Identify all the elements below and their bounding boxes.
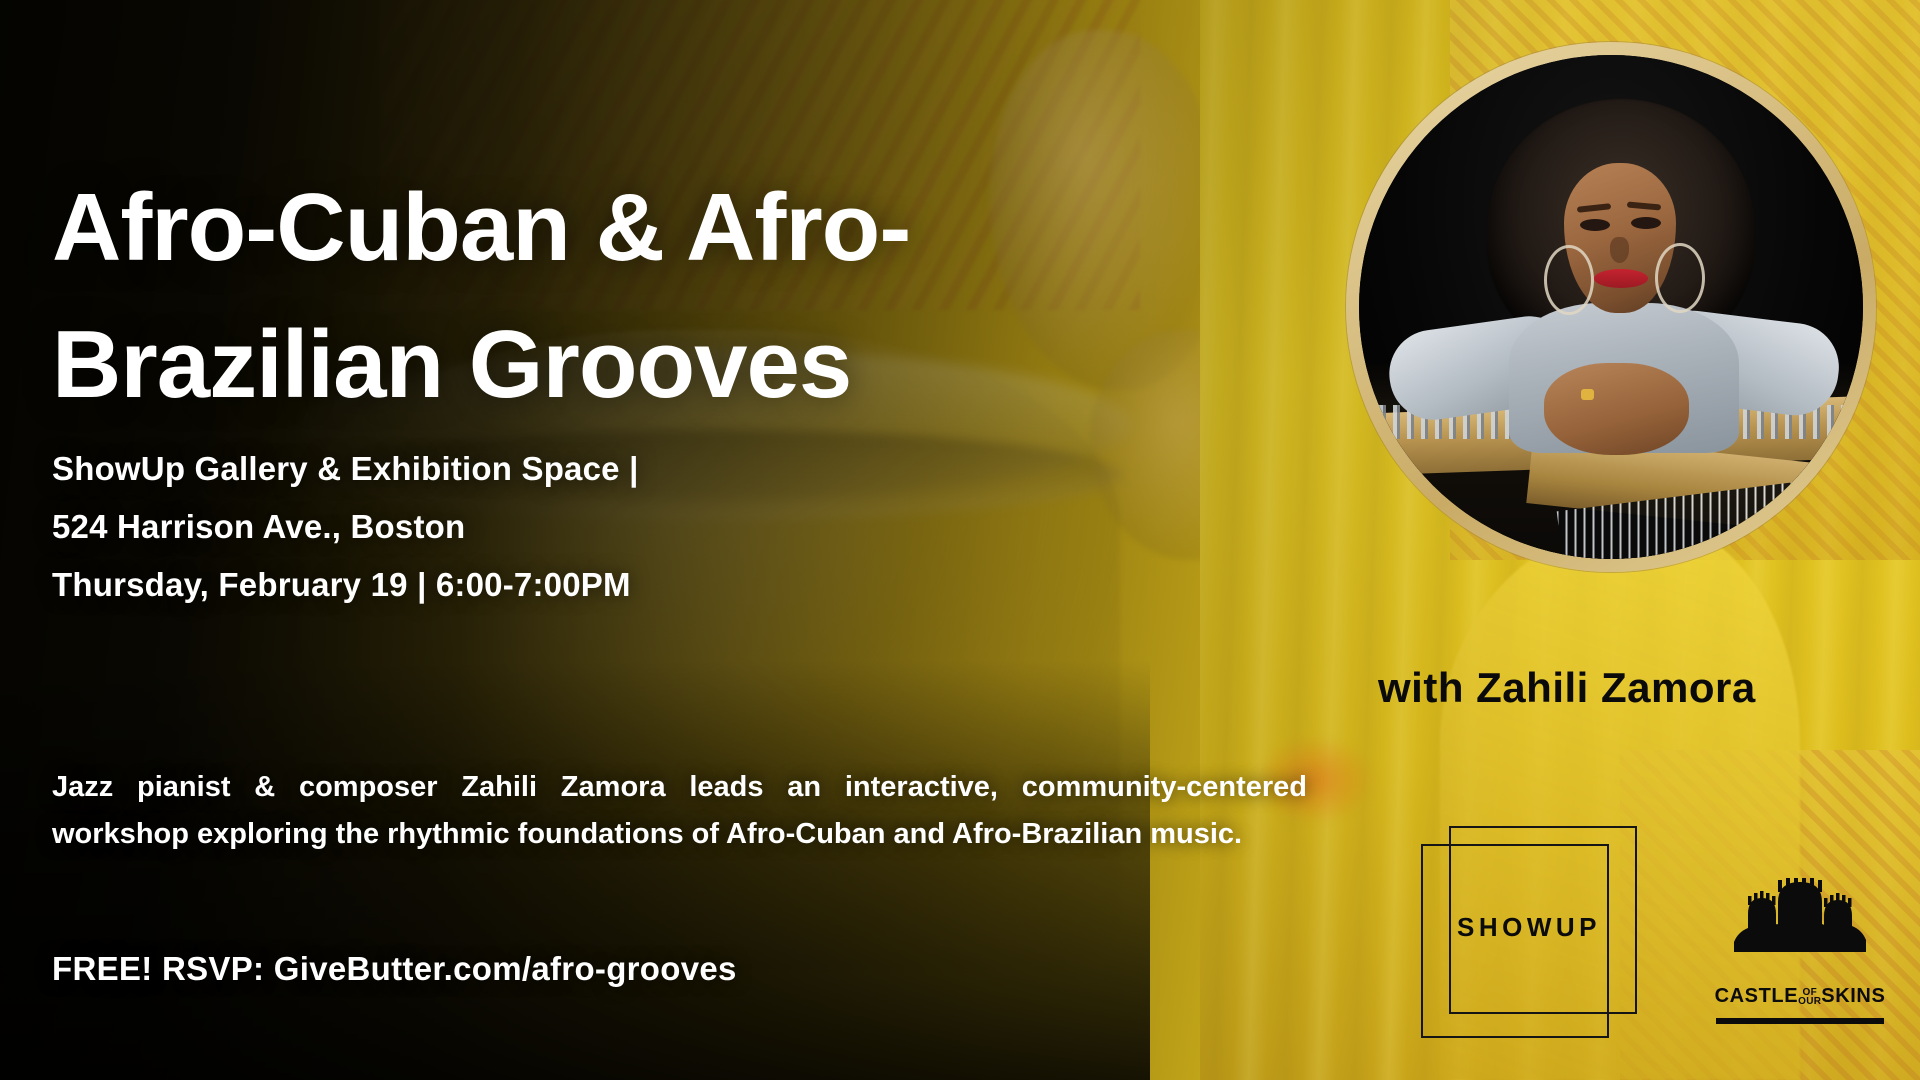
artist-credit: with Zahili Zamora bbox=[1378, 664, 1756, 712]
artist-portrait bbox=[1359, 55, 1863, 559]
three-figures-icon bbox=[1710, 878, 1890, 986]
event-datetime: Thursday, February 19 | 6:00-7:00PM bbox=[52, 556, 639, 614]
portrait-lips bbox=[1594, 269, 1648, 288]
artist-portrait-ring bbox=[1346, 42, 1876, 572]
event-flyer: Afro-Cuban & Afro- Brazilian Grooves Sho… bbox=[0, 0, 1920, 1080]
portrait-finger-ring bbox=[1581, 389, 1594, 400]
portrait-nose bbox=[1610, 237, 1629, 263]
cos-underline bbox=[1716, 1018, 1884, 1024]
showup-logo: SHOWUP bbox=[1421, 826, 1637, 1038]
event-title-line-2: Brazilian Grooves bbox=[52, 297, 1262, 433]
portrait-eye-right bbox=[1631, 217, 1661, 229]
event-details: ShowUp Gallery & Exhibition Space | 524 … bbox=[52, 440, 639, 613]
cos-word-of-our: OFOUR bbox=[1798, 988, 1821, 1006]
event-description: Jazz pianist & composer Zahili Zamora le… bbox=[52, 764, 1307, 858]
portrait-hoop-earring-left bbox=[1544, 245, 1594, 315]
portrait-hoop-earring-right bbox=[1655, 243, 1705, 313]
event-title-line-1: Afro-Cuban & Afro- bbox=[52, 160, 1262, 296]
cos-word-skins: SKINS bbox=[1821, 985, 1885, 1007]
portrait-eye-left bbox=[1580, 219, 1610, 231]
castle-of-our-skins-logo: CASTLEOFOURSKINS bbox=[1710, 878, 1890, 1030]
portrait-hands bbox=[1544, 363, 1689, 455]
venue-address: 524 Harrison Ave., Boston bbox=[52, 498, 639, 556]
rsvp-link[interactable]: FREE! RSVP: GiveButter.com/afro-grooves bbox=[52, 950, 737, 988]
venue-name: ShowUp Gallery & Exhibition Space | bbox=[52, 440, 639, 498]
castle-of-our-skins-wordmark: CASTLEOFOURSKINS bbox=[1710, 985, 1890, 1008]
event-title: Afro-Cuban & Afro- Brazilian Grooves bbox=[52, 160, 1262, 433]
cos-word-castle: CASTLE bbox=[1715, 985, 1799, 1007]
showup-wordmark: SHOWUP bbox=[1421, 912, 1637, 943]
